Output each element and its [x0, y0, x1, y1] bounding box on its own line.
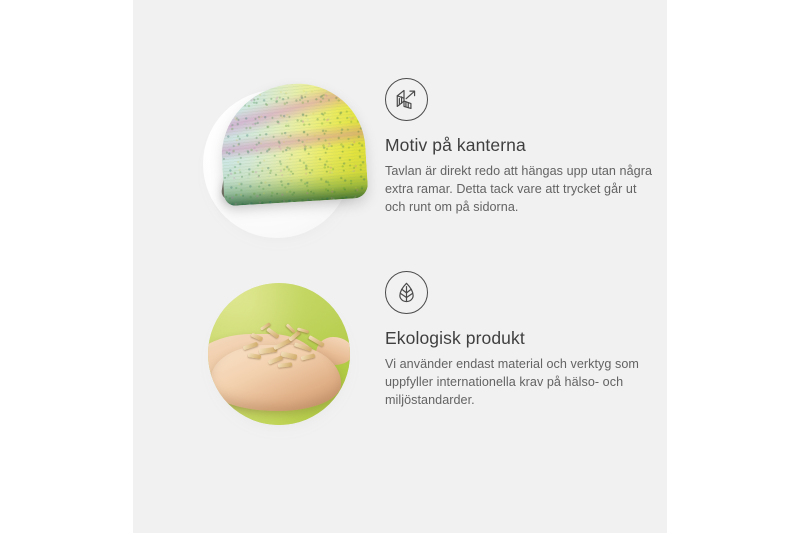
- paint-speckle-texture: [218, 80, 369, 207]
- content-stage: Motiv på kanterna Tavlan är direkt redo …: [133, 0, 667, 533]
- canvas-wrapped-edge-icon: [385, 78, 428, 121]
- hands-holding-wood-chips-photo: [208, 283, 350, 425]
- product-feature-infographic: Motiv på kanterna Tavlan är direkt redo …: [0, 0, 800, 533]
- feature-title: Motiv på kanterna: [385, 135, 661, 156]
- feature-copy-1: Motiv på kanterna Tavlan är direkt redo …: [385, 78, 661, 216]
- photo-circle-frame: [208, 283, 350, 425]
- feature-row-ekologisk-produkt: Ekologisk produkt Vi använder endast mat…: [133, 271, 667, 451]
- feature-title: Ekologisk produkt: [385, 328, 661, 349]
- canvas-corner-graphic: [221, 84, 365, 220]
- canvas-printed-face: [218, 80, 369, 207]
- feature-copy-2: Ekologisk produkt Vi använder endast mat…: [385, 271, 661, 409]
- feature-body: Vi använder endast material och verktyg …: [385, 355, 653, 409]
- leaf-icon: [385, 271, 428, 314]
- feature-body: Tavlan är direkt redo att hängas upp uta…: [385, 162, 653, 216]
- canvas-print-corner-photo: [203, 90, 351, 238]
- leaf-icon-glyph: [394, 280, 419, 305]
- feature-row-motiv-pa-kanterna: Motiv på kanterna Tavlan är direkt redo …: [133, 78, 667, 258]
- canvas-wrapped-edge-icon-glyph: [394, 87, 419, 112]
- wood-chip-pile: [239, 323, 327, 371]
